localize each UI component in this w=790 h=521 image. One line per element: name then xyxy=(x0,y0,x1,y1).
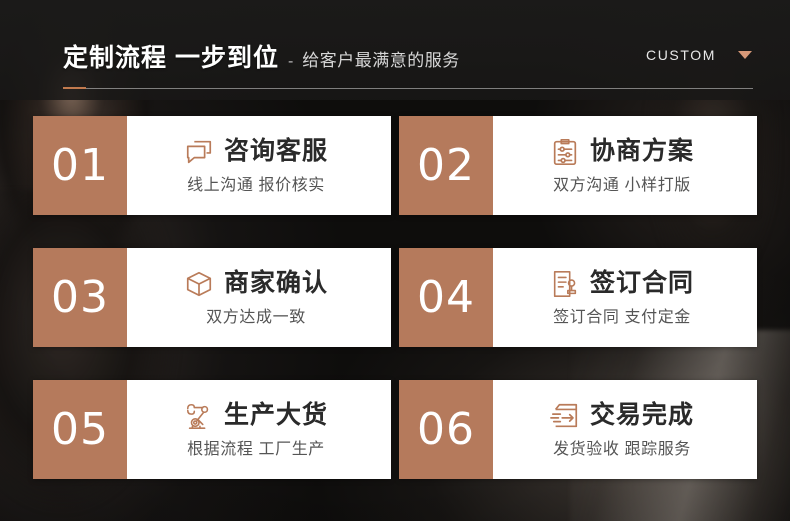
step-title: 咨询客服 xyxy=(224,138,328,166)
chevron-down-icon[interactable] xyxy=(738,51,752,59)
step-heading: 生产大货 xyxy=(184,401,328,431)
step-heading: 交易完成 xyxy=(550,401,694,431)
process-step-card[interactable]: 03 商家确认 双方达成一致 xyxy=(33,248,391,347)
step-heading: 协商方案 xyxy=(550,137,694,167)
step-heading: 咨询客服 xyxy=(184,137,328,167)
process-steps-grid: 01 咨询客服 线上沟通 报价核实 02 xyxy=(33,116,757,479)
step-number: 06 xyxy=(399,380,493,479)
process-step-card[interactable]: 06 交易完成 发货验收 跟踪服务 xyxy=(399,380,757,479)
custom-dropdown-label: CUSTOM xyxy=(646,47,716,63)
step-number: 04 xyxy=(399,248,493,347)
package-box-icon xyxy=(184,269,214,299)
step-subtitle: 发货验收 跟踪服务 xyxy=(553,435,691,459)
shipping-box-arrow-icon xyxy=(550,401,580,431)
step-number: 02 xyxy=(399,116,493,215)
step-subtitle: 根据流程 工厂生产 xyxy=(187,435,325,459)
process-step-card[interactable]: 05 生产大货 xyxy=(33,380,391,479)
step-title: 交易完成 xyxy=(590,402,694,430)
step-number: 03 xyxy=(33,248,127,347)
process-step-card[interactable]: 04 签订合同 签订合同 支付定金 xyxy=(399,248,757,347)
step-title: 协商方案 xyxy=(590,138,694,166)
step-content: 商家确认 双方达成一致 xyxy=(127,248,391,347)
header: 定制流程 一步到位 - 给客户最满意的服务 CUSTOM xyxy=(0,0,790,100)
step-subtitle: 线上沟通 报价核实 xyxy=(187,171,325,195)
step-subtitle: 双方达成一致 xyxy=(206,303,306,327)
step-subtitle: 签订合同 支付定金 xyxy=(553,303,691,327)
step-heading: 商家确认 xyxy=(184,269,328,299)
custom-process-banner: 定制流程 一步到位 - 给客户最满意的服务 CUSTOM 01 咨询客服 xyxy=(0,0,790,521)
step-number: 05 xyxy=(33,380,127,479)
chat-bubbles-icon xyxy=(184,137,214,167)
page-subtitle: 给客户最满意的服务 xyxy=(302,46,460,71)
title-separator: - xyxy=(288,53,293,71)
header-divider xyxy=(63,88,753,89)
step-title: 生产大货 xyxy=(224,402,328,430)
step-number: 01 xyxy=(33,116,127,215)
robot-arm-icon xyxy=(184,401,214,431)
step-title: 商家确认 xyxy=(224,270,328,298)
header-divider-accent xyxy=(63,87,86,89)
custom-dropdown[interactable]: CUSTOM xyxy=(646,47,752,63)
contract-stamp-icon xyxy=(550,269,580,299)
step-heading: 签订合同 xyxy=(550,269,694,299)
page-title: 定制流程 一步到位 xyxy=(63,38,279,74)
step-content: 咨询客服 线上沟通 报价核实 xyxy=(127,116,391,215)
step-content: 协商方案 双方沟通 小样打版 xyxy=(493,116,757,215)
step-content: 生产大货 根据流程 工厂生产 xyxy=(127,380,391,479)
process-step-card[interactable]: 01 咨询客服 线上沟通 报价核实 xyxy=(33,116,391,215)
clipboard-settings-icon xyxy=(550,137,580,167)
step-subtitle: 双方沟通 小样打版 xyxy=(553,171,691,195)
step-content: 签订合同 签订合同 支付定金 xyxy=(493,248,757,347)
step-title: 签订合同 xyxy=(590,270,694,298)
process-step-card[interactable]: 02 协商方案 双方沟通 小样打版 xyxy=(399,116,757,215)
step-content: 交易完成 发货验收 跟踪服务 xyxy=(493,380,757,479)
